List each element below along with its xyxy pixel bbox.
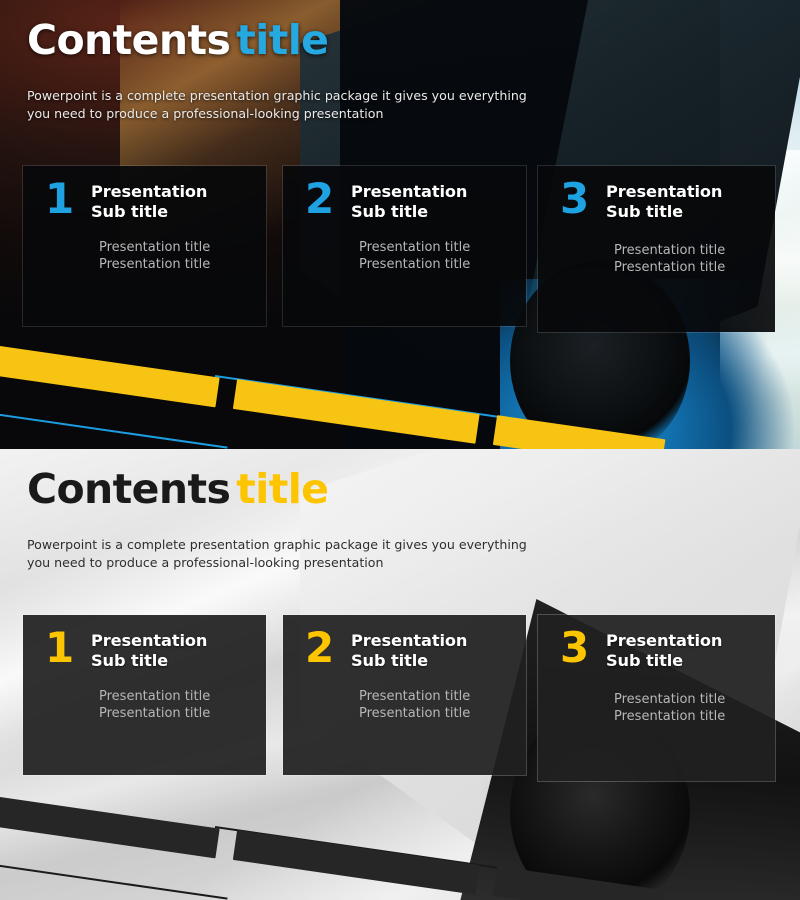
card-body-line2: Presentation title [359, 705, 526, 723]
card-subtitle-line1: Presentation [351, 182, 467, 201]
page-description: Powerpoint is a complete presentation gr… [27, 87, 537, 123]
card-body-line1: Presentation title [359, 688, 526, 706]
slide-light: Contentstitle Powerpoint is a complete p… [0, 449, 800, 900]
card-subtitle-line1: Presentation [91, 182, 207, 201]
card-number: 2 [305, 180, 351, 219]
page-title-accent: title [236, 16, 328, 64]
slide-dark: Contentstitle Powerpoint is a complete p… [0, 0, 800, 449]
card-body-line1: Presentation title [99, 688, 266, 706]
headline-block: Contentstitle Powerpoint is a complete p… [27, 18, 627, 123]
card-number: 1 [45, 629, 91, 668]
card-body: Presentation title Presentation title [283, 688, 526, 724]
page-title-base: Contents [27, 465, 230, 513]
content-card-1[interactable]: 1 Presentation Sub title Presentation ti… [23, 166, 266, 326]
card-subtitle-line2: Sub title [351, 202, 428, 221]
page-title: Contentstitle [27, 18, 627, 62]
card-body-line2: Presentation title [359, 256, 526, 274]
card-subtitle-line2: Sub title [606, 651, 683, 670]
card-number: 2 [305, 629, 351, 668]
card-header-row: 1 Presentation Sub title [23, 180, 266, 222]
card-subtitle: Presentation Sub title [351, 629, 467, 671]
card-body: Presentation title Presentation title [538, 242, 775, 278]
card-header-row: 1 Presentation Sub title [23, 629, 266, 671]
card-body: Presentation title Presentation title [538, 691, 775, 727]
accent-hairline [0, 411, 228, 449]
content-cards-dark: 1 Presentation Sub title Presentation ti… [0, 166, 800, 341]
content-cards-light: 1 Presentation Sub title Presentation ti… [0, 615, 800, 790]
card-body-line2: Presentation title [614, 708, 775, 726]
road-stripe [233, 379, 480, 444]
card-subtitle-line1: Presentation [91, 631, 207, 650]
card-subtitle-line2: Sub title [351, 651, 428, 670]
content-card-3[interactable]: 3 Presentation Sub title Presentation ti… [538, 166, 775, 332]
content-card-1[interactable]: 1 Presentation Sub title Presentation ti… [23, 615, 266, 775]
card-number: 1 [45, 180, 91, 219]
card-body-line2: Presentation title [99, 256, 266, 274]
card-subtitle-line2: Sub title [91, 202, 168, 221]
content-card-2[interactable]: 2 Presentation Sub title Presentation ti… [283, 166, 526, 326]
page-title-base: Contents [27, 16, 230, 64]
card-subtitle: Presentation Sub title [606, 629, 722, 671]
card-header-row: 3 Presentation Sub title [538, 180, 775, 222]
card-body-line1: Presentation title [359, 239, 526, 257]
card-body: Presentation title Presentation title [23, 239, 266, 275]
road-stripe [233, 830, 480, 895]
slide-deck: Contentstitle Powerpoint is a complete p… [0, 0, 800, 900]
card-subtitle-line1: Presentation [606, 182, 722, 201]
card-subtitle-line2: Sub title [606, 202, 683, 221]
card-subtitle: Presentation Sub title [91, 629, 207, 671]
page-description: Powerpoint is a complete presentation gr… [27, 536, 537, 572]
page-title: Contentstitle [27, 467, 627, 511]
card-body-line2: Presentation title [614, 259, 775, 277]
card-body: Presentation title Presentation title [283, 239, 526, 275]
card-subtitle-line2: Sub title [91, 651, 168, 670]
card-subtitle-line1: Presentation [351, 631, 467, 650]
road-stripe [0, 343, 220, 407]
card-number: 3 [560, 180, 606, 219]
card-subtitle-line1: Presentation [606, 631, 722, 650]
card-body: Presentation title Presentation title [23, 688, 266, 724]
road-stripe [0, 794, 220, 858]
card-subtitle: Presentation Sub title [606, 180, 722, 222]
content-card-2[interactable]: 2 Presentation Sub title Presentation ti… [283, 615, 526, 775]
card-header-row: 3 Presentation Sub title [538, 629, 775, 671]
card-body-line1: Presentation title [99, 239, 266, 257]
card-number: 3 [560, 629, 606, 668]
card-subtitle: Presentation Sub title [351, 180, 467, 222]
card-body-line1: Presentation title [614, 691, 775, 709]
page-title-accent: title [236, 465, 328, 513]
card-header-row: 2 Presentation Sub title [283, 180, 526, 222]
card-body-line2: Presentation title [99, 705, 266, 723]
content-card-3[interactable]: 3 Presentation Sub title Presentation ti… [538, 615, 775, 781]
card-body-line1: Presentation title [614, 242, 775, 260]
accent-hairline [0, 862, 228, 900]
card-subtitle: Presentation Sub title [91, 180, 207, 222]
headline-block: Contentstitle Powerpoint is a complete p… [27, 467, 627, 572]
card-header-row: 2 Presentation Sub title [283, 629, 526, 671]
